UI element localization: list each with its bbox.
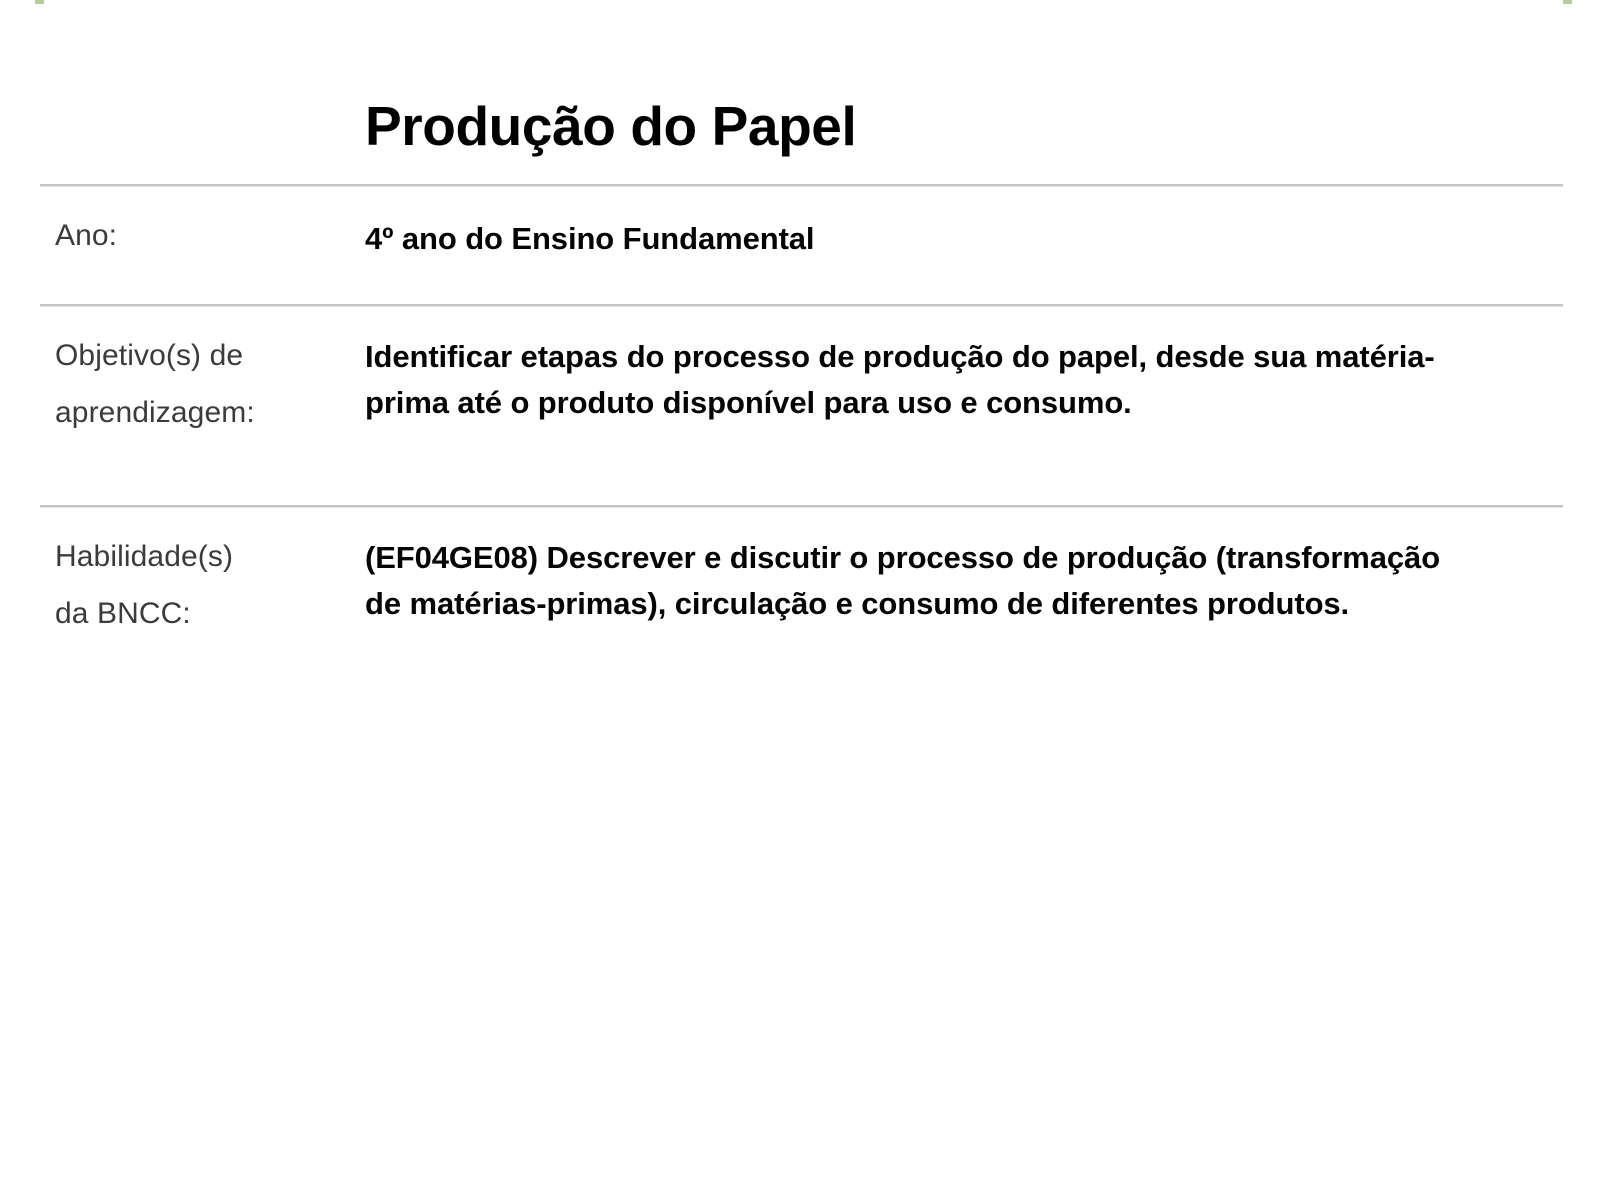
table-row-habilidades: Habilidade(s) da BNCC: (EF04GE08) Descre… bbox=[40, 507, 1563, 642]
row-label-habilidades-line1: Habilidade(s) bbox=[55, 529, 365, 585]
row-label-objetivos-line1: Objetivo(s) de bbox=[55, 328, 365, 384]
row-value-ano: 4º ano do Ensino Fundamental bbox=[365, 206, 1563, 262]
decorative-mark-icon-left bbox=[35, 0, 44, 4]
table-row-ano: Ano: 4º ano do Ensino Fundamental bbox=[40, 186, 1563, 304]
table-row-objetivos: Objetivo(s) de aprendizagem: Identificar… bbox=[40, 306, 1563, 505]
lesson-plan-page: Produção do Papel Ano: 4º ano do Ensino … bbox=[0, 0, 1600, 1200]
row-label-objetivos: Objetivo(s) de aprendizagem: bbox=[40, 326, 365, 441]
row-label-objetivos-line2: aprendizagem: bbox=[55, 385, 365, 441]
lesson-info-table: Ano: 4º ano do Ensino Fundamental Objeti… bbox=[40, 184, 1563, 642]
row-label-ano: Ano: bbox=[40, 206, 365, 264]
row-value-objetivos: Identificar etapas do processo de produç… bbox=[365, 326, 1563, 425]
decorative-mark-icon-right bbox=[1563, 0, 1572, 4]
row-label-habilidades-line2: da BNCC: bbox=[55, 586, 365, 642]
row-value-habilidades: (EF04GE08) Descrever e discutir o proces… bbox=[365, 527, 1563, 626]
row-label-habilidades: Habilidade(s) da BNCC: bbox=[40, 527, 365, 642]
page-title: Produção do Papel bbox=[365, 94, 1465, 159]
